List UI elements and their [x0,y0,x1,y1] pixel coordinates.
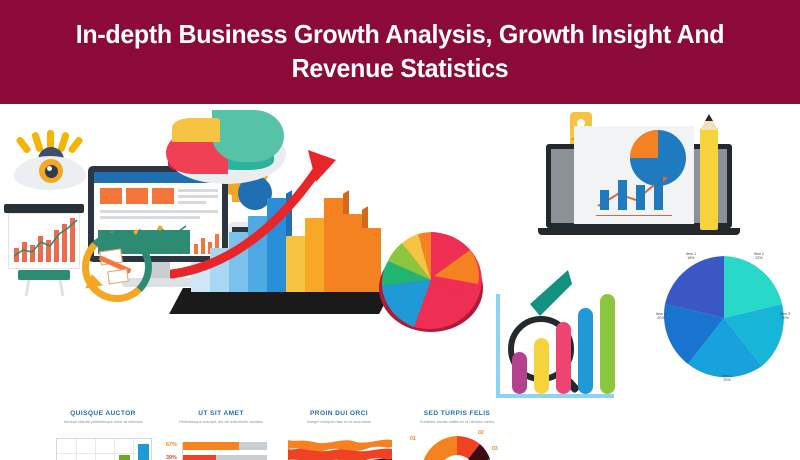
eye-icon [14,132,86,192]
pie-label-item-1: Item 118% [678,252,704,261]
panel-title: SED TURPIS FELIS [402,410,512,417]
infographic-banner-page: In-depth Business Growth Analysis, Growt… [0,0,800,460]
panel-proin-dui-orci: PROIN DUI ORCI Integer volutpat vitae ex… [284,410,394,460]
bar-chart-3d [176,144,386,314]
panel-title: PROIN DUI ORCI [284,410,394,417]
teal-arrow-icon [530,270,572,318]
graphics-collage: Item 222% Item 320% Item 420% Item 520% … [0,104,800,460]
panel-subtitle: Curabitur iaculis mattis ex id ultricies… [402,419,512,424]
pie-label-item-5: Item 520% [648,312,674,321]
page-title: In-depth Business Growth Analysis, Growt… [35,18,765,86]
pie-chart-3d-main [374,228,488,332]
hbar-label: 39% [166,455,181,460]
panel-quisque-auctor: QUISQUE AUCTOR Aenean blandit pellentesq… [48,410,158,460]
pie-label-item-4: Item 420% [714,374,740,383]
pencil-icon [700,114,718,230]
presentation-board-icon [4,204,84,296]
header-banner: In-depth Business Growth Analysis, Growt… [0,0,800,104]
panel-subtitle: Pellentesque suscipit, dui vel sollicitu… [166,419,276,424]
donut-label-03: 03 [492,446,498,452]
donut-label-02: 02 [478,430,484,436]
panel-title: QUISQUE AUCTOR [48,410,158,417]
recycle-arrows-icon [82,232,152,302]
pie-label-item-2: Item 222% [746,252,772,261]
capsule-bar-chart [496,286,622,408]
pie-label-item-3: Item 320% [772,312,798,321]
stacked-area-chart [288,438,392,460]
panel-subtitle: Integer volutpat vitae ex in accumsan [284,419,394,424]
hbar-label: 67% [166,442,181,448]
panel-ut-sit-amet: UT SIT AMET Pellentesque suscipit, dui v… [166,410,276,460]
infographic-panels: QUISQUE AUCTOR Aenean blandit pellentesq… [48,410,508,460]
pie-chart-blue: Item 222% Item 320% Item 420% Item 520% … [662,256,786,380]
growth-arrow-icon [170,148,376,288]
panel-title: UT SIT AMET [166,410,276,417]
panel-subtitle: Aenean blandit pellentesque dolor at veh… [48,419,158,424]
panel-sed-turpis-felis: SED TURPIS FELIS Curabitur iaculis matti… [402,410,512,460]
donut-label-01: 01 [410,436,416,442]
